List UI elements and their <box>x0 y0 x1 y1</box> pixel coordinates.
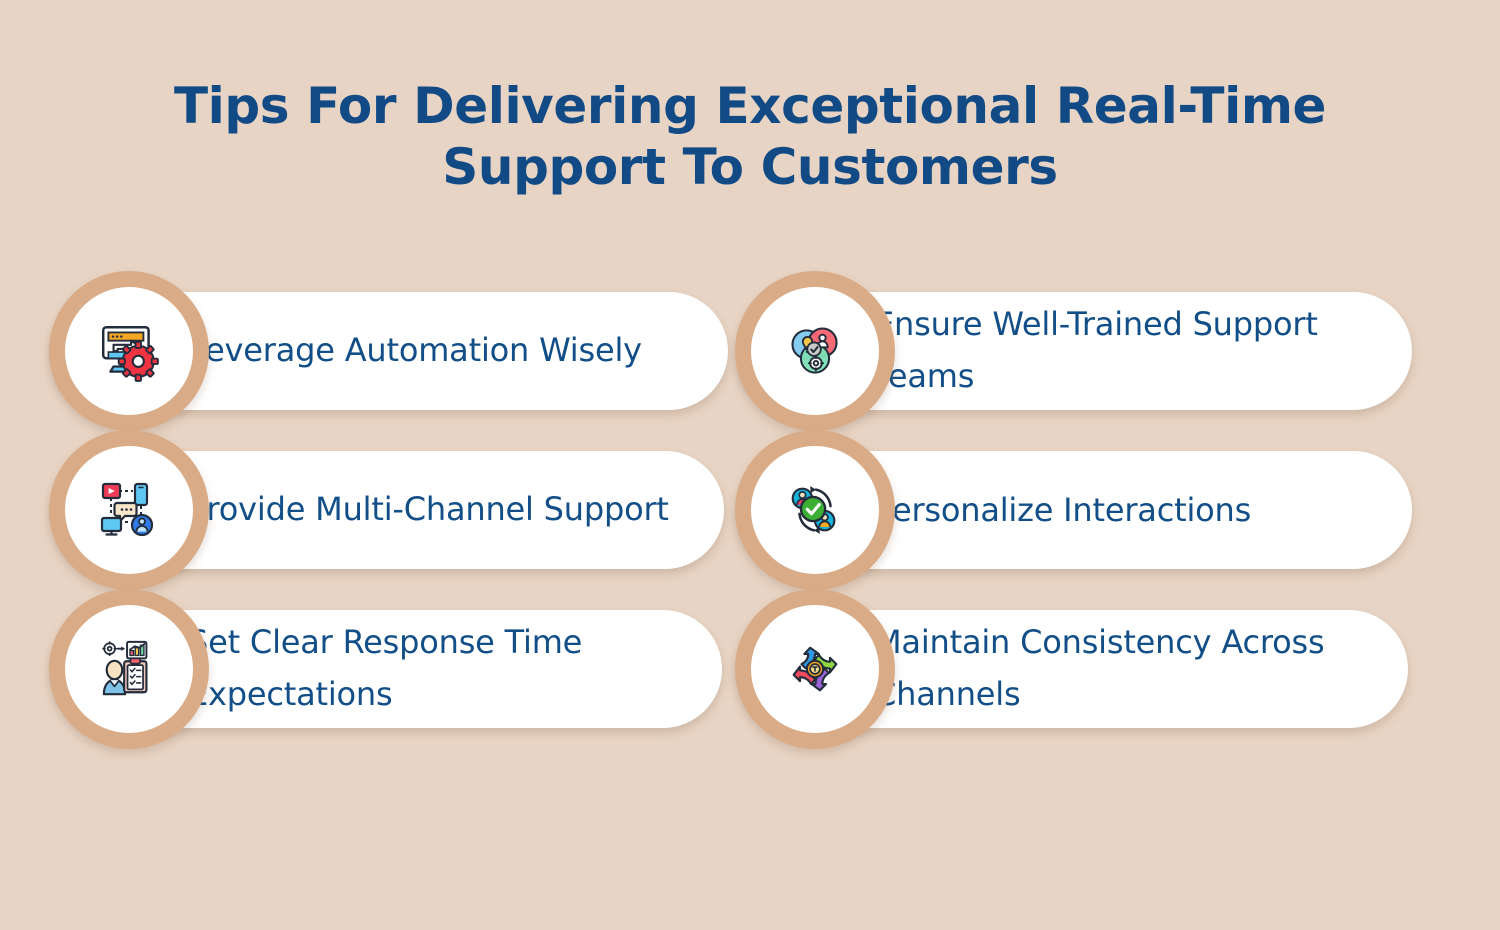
tip-card-personalize-interactions[interactable]: Personalize Interactions <box>738 451 1412 569</box>
tip-icon-badge <box>735 271 895 431</box>
tip-icon-disc <box>65 446 193 574</box>
tips-column-right: Personalize Interactions <box>720 451 1500 569</box>
venn-skills-icon <box>785 321 845 381</box>
tip-label: Ensure Well-Trained Support Teams <box>874 299 1396 403</box>
tip-label: Maintain Consistency Across Channels <box>874 617 1392 721</box>
tip-card-ensure-well-trained-support-teams[interactable]: Ensure Well-Trained Support Teams <box>738 292 1412 410</box>
tips-grid: Leverage Automation Wisely <box>0 292 1500 728</box>
tip-card-set-clear-response-time-expectations[interactable]: Set Clear Response Time Expectations <box>52 610 722 728</box>
tip-card-leverage-automation-wisely[interactable]: Leverage Automation Wisely <box>52 292 728 410</box>
tip-icon-disc <box>65 287 193 415</box>
tip-icon-badge <box>49 271 209 431</box>
tip-icon-badge <box>735 430 895 590</box>
tip-label: Set Clear Response Time Expectations <box>188 617 706 721</box>
page-title-line-2: Support To Customers <box>442 138 1057 196</box>
infographic-page: Tips For Delivering Exceptional Real-Tim… <box>0 0 1500 930</box>
multi-device-chat-icon <box>97 478 161 542</box>
tip-icon-disc <box>751 446 879 574</box>
monitor-gear-icon <box>96 318 162 384</box>
tip-icon-badge <box>49 430 209 590</box>
tip-icon-disc <box>65 605 193 733</box>
tip-card-provide-multi-channel-support[interactable]: Provide Multi-Channel Support <box>52 451 724 569</box>
tip-icon-badge <box>735 589 895 749</box>
tips-column-left: Provide Multi-Channel Support <box>0 451 720 569</box>
tips-column-right: Maintain Consistency Across Channels <box>720 610 1500 728</box>
tip-label: Provide Multi-Channel Support <box>188 484 669 536</box>
tip-icon-disc <box>751 605 879 733</box>
tip-label: Leverage Automation Wisely <box>188 325 642 377</box>
tip-icon-disc <box>751 287 879 415</box>
tips-column-left: Set Clear Response Time Expectations <box>0 610 720 728</box>
tip-icon-badge <box>49 589 209 749</box>
page-title-line-1: Tips For Delivering Exceptional Real-Tim… <box>174 77 1326 135</box>
four-arrow-cycle-icon <box>784 638 846 700</box>
tips-column-left: Leverage Automation Wisely <box>0 292 720 410</box>
tip-label: Personalize Interactions <box>874 491 1251 529</box>
tips-row: Set Clear Response Time Expectations <box>0 610 1500 728</box>
person-checklist-chart-icon <box>98 638 160 700</box>
tips-column-right: Ensure Well-Trained Support Teams <box>720 292 1500 410</box>
people-check-cycle-icon <box>784 479 846 541</box>
page-title: Tips For Delivering Exceptional Real-Tim… <box>135 76 1365 198</box>
tips-row: Provide Multi-Channel Support <box>0 451 1500 569</box>
tips-row: Leverage Automation Wisely <box>0 292 1500 410</box>
page-header: Tips For Delivering Exceptional Real-Tim… <box>0 0 1500 198</box>
tip-card-maintain-consistency-across-channels[interactable]: Maintain Consistency Across Channels <box>738 610 1408 728</box>
